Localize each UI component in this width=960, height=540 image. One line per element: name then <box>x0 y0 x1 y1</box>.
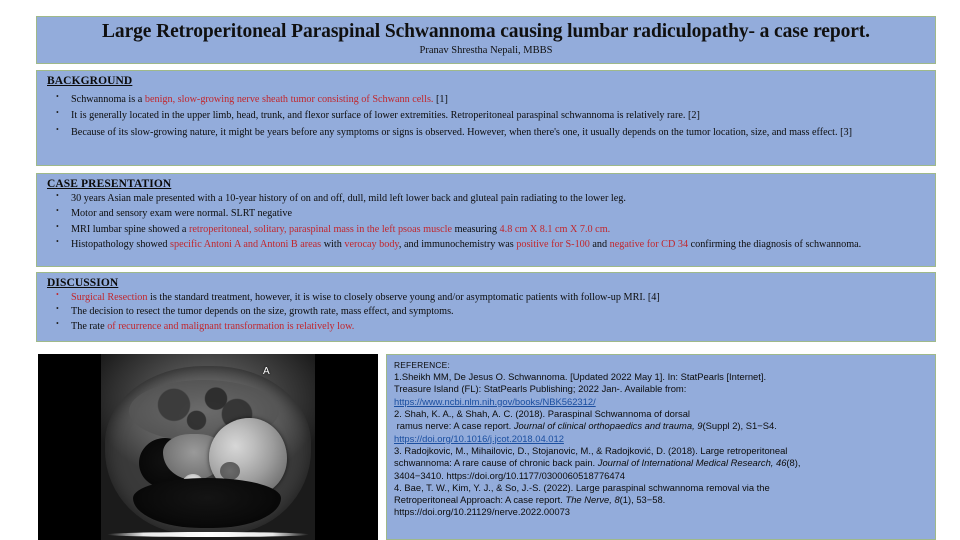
discussion-bullet-list: Surgical Resection is the standard treat… <box>37 291 935 334</box>
figure-label-a: A <box>263 366 270 377</box>
case-presentation-bullet: 30 years Asian male presented with a 10-… <box>49 192 921 206</box>
reference-link[interactable]: https://doi.org/10.1016/j.jcot.2018.04.0… <box>394 433 929 445</box>
body-text: It is generally located in the upper lim… <box>71 110 700 121</box>
body-text: measuring <box>452 224 500 235</box>
reference-text: schwannoma: A rare cause of chronic back… <box>394 457 598 468</box>
mri-figure: A <box>38 354 378 540</box>
mri-posterior-skin-line <box>107 532 309 537</box>
discussion-bullet: Surgical Resection is the standard treat… <box>49 291 921 305</box>
body-text: Histopathology showed <box>71 239 170 250</box>
reference-text: (8), <box>786 457 800 468</box>
body-text: MRI lumbar spine showed a <box>71 224 189 235</box>
body-text: confirming the diagnosis of schwannoma. <box>688 239 861 250</box>
discussion-section: DISCUSSION Surgical Resection is the sta… <box>36 272 936 342</box>
reference-journal: The Nerve, 8 <box>565 494 619 505</box>
highlighted-text: verocay body <box>344 239 399 250</box>
body-text: Schwannoma is a <box>71 94 145 105</box>
reference-line: 3404−3410. https://doi.org/10.1177/03000… <box>394 470 929 482</box>
case-presentation-bullet: Histopathology showed specific Antoni A … <box>49 238 921 252</box>
body-text: with <box>321 239 344 250</box>
title-panel: Large Retroperitoneal Paraspinal Schwann… <box>36 16 936 64</box>
reference-section: REFERENCE: 1.Sheikh MM, De Jesus O. Schw… <box>386 354 936 540</box>
mri-scan-image: A <box>101 354 315 540</box>
background-section: BACKGROUND Schwannoma is a benign, slow-… <box>36 70 936 166</box>
body-text: and <box>590 239 610 250</box>
background-bullet: Schwannoma is a benign, slow-growing ner… <box>49 93 921 107</box>
reference-line: schwannoma: A rare cause of chronic back… <box>394 457 929 469</box>
reference-line: 4. Bae, T. W., Kim, Y. J., & So, J.-S. (… <box>394 482 929 494</box>
body-text: is the standard treatment, however, it i… <box>148 292 660 303</box>
reference-line: 1.Sheikh MM, De Jesus O. Schwannoma. [Up… <box>394 371 929 383</box>
body-text: [1] <box>433 94 447 105</box>
highlighted-text: positive for S-100 <box>516 239 590 250</box>
discussion-bullet: The rate of recurrence and malignant tra… <box>49 320 921 334</box>
reference-line: ramus nerve: A case report. Journal of c… <box>394 420 929 432</box>
body-text: Motor and sensory exam were normal. SLRT… <box>71 208 292 219</box>
reference-link[interactable]: https://www.ncbi.nlm.nih.gov/books/NBK56… <box>394 396 929 408</box>
reference-list: 1.Sheikh MM, De Jesus O. Schwannoma. [Up… <box>394 371 929 519</box>
reference-text: (Suppl 2), S1−S4. <box>703 420 777 431</box>
case-presentation-heading: CASE PRESENTATION <box>47 178 935 190</box>
highlighted-text: benign, slow-growing nerve sheath tumor … <box>145 94 434 105</box>
poster-page: Large Retroperitoneal Paraspinal Schwann… <box>0 0 960 540</box>
highlighted-text: specific Antoni A and Antoni B areas <box>170 239 321 250</box>
highlighted-text: negative for CD 34 <box>610 239 688 250</box>
background-bullet: Because of its slow-growing nature, it m… <box>49 126 921 140</box>
reference-text: Retroperitoneal Approach: A case report. <box>394 494 565 505</box>
discussion-bullet: The decision to resect the tumor depends… <box>49 305 921 319</box>
reference-line: 2. Shah, K. A., & Shah, A. C. (2018). Pa… <box>394 408 929 420</box>
body-text: Because of its slow-growing nature, it m… <box>71 127 852 138</box>
body-text: 30 years Asian male presented with a 10-… <box>71 193 626 204</box>
highlighted-text: retroperitoneal, solitary, paraspinal ma… <box>189 224 452 235</box>
body-text: The decision to resect the tumor depends… <box>71 306 454 317</box>
author-line: Pranav Shrestha Nepali, MBBS <box>37 45 935 56</box>
case-presentation-section: CASE PRESENTATION 30 years Asian male pr… <box>36 173 936 267</box>
case-presentation-bullet: MRI lumbar spine showed a retroperitonea… <box>49 223 921 237</box>
reference-journal: Journal of clinical orthopaedics and tra… <box>514 420 703 431</box>
reference-text: ramus nerve: A case report. <box>394 420 514 431</box>
highlighted-text: Surgical Resection <box>71 292 148 303</box>
reference-journal: Journal of International Medical Researc… <box>598 457 787 468</box>
page-title: Large Retroperitoneal Paraspinal Schwann… <box>37 22 935 42</box>
case-presentation-bullet-list: 30 years Asian male presented with a 10-… <box>37 192 935 252</box>
body-text: The rate <box>71 321 107 332</box>
case-presentation-bullet: Motor and sensory exam were normal. SLRT… <box>49 207 921 221</box>
reference-heading: REFERENCE: <box>394 360 929 370</box>
reference-text: (1), 53−58. <box>620 494 666 505</box>
background-bullet: It is generally located in the upper lim… <box>49 109 921 123</box>
reference-line: 3. Radojkovic, M., Mihailovic, D., Stoja… <box>394 445 929 457</box>
body-text: , and immunochemistry was <box>399 239 516 250</box>
background-bullet-list: Schwannoma is a benign, slow-growing ner… <box>37 89 935 140</box>
reference-line: Retroperitoneal Approach: A case report.… <box>394 494 929 506</box>
reference-line: https://doi.org/10.21129/nerve.2022.0007… <box>394 506 929 518</box>
reference-line: Treasure Island (FL): StatPearls Publish… <box>394 383 929 395</box>
discussion-heading: DISCUSSION <box>47 277 935 289</box>
background-heading: BACKGROUND <box>47 75 935 87</box>
highlighted-text: of recurrence and malignant transformati… <box>107 321 354 332</box>
highlighted-text: 4.8 cm X 8.1 cm X 7.0 cm. <box>500 224 611 235</box>
